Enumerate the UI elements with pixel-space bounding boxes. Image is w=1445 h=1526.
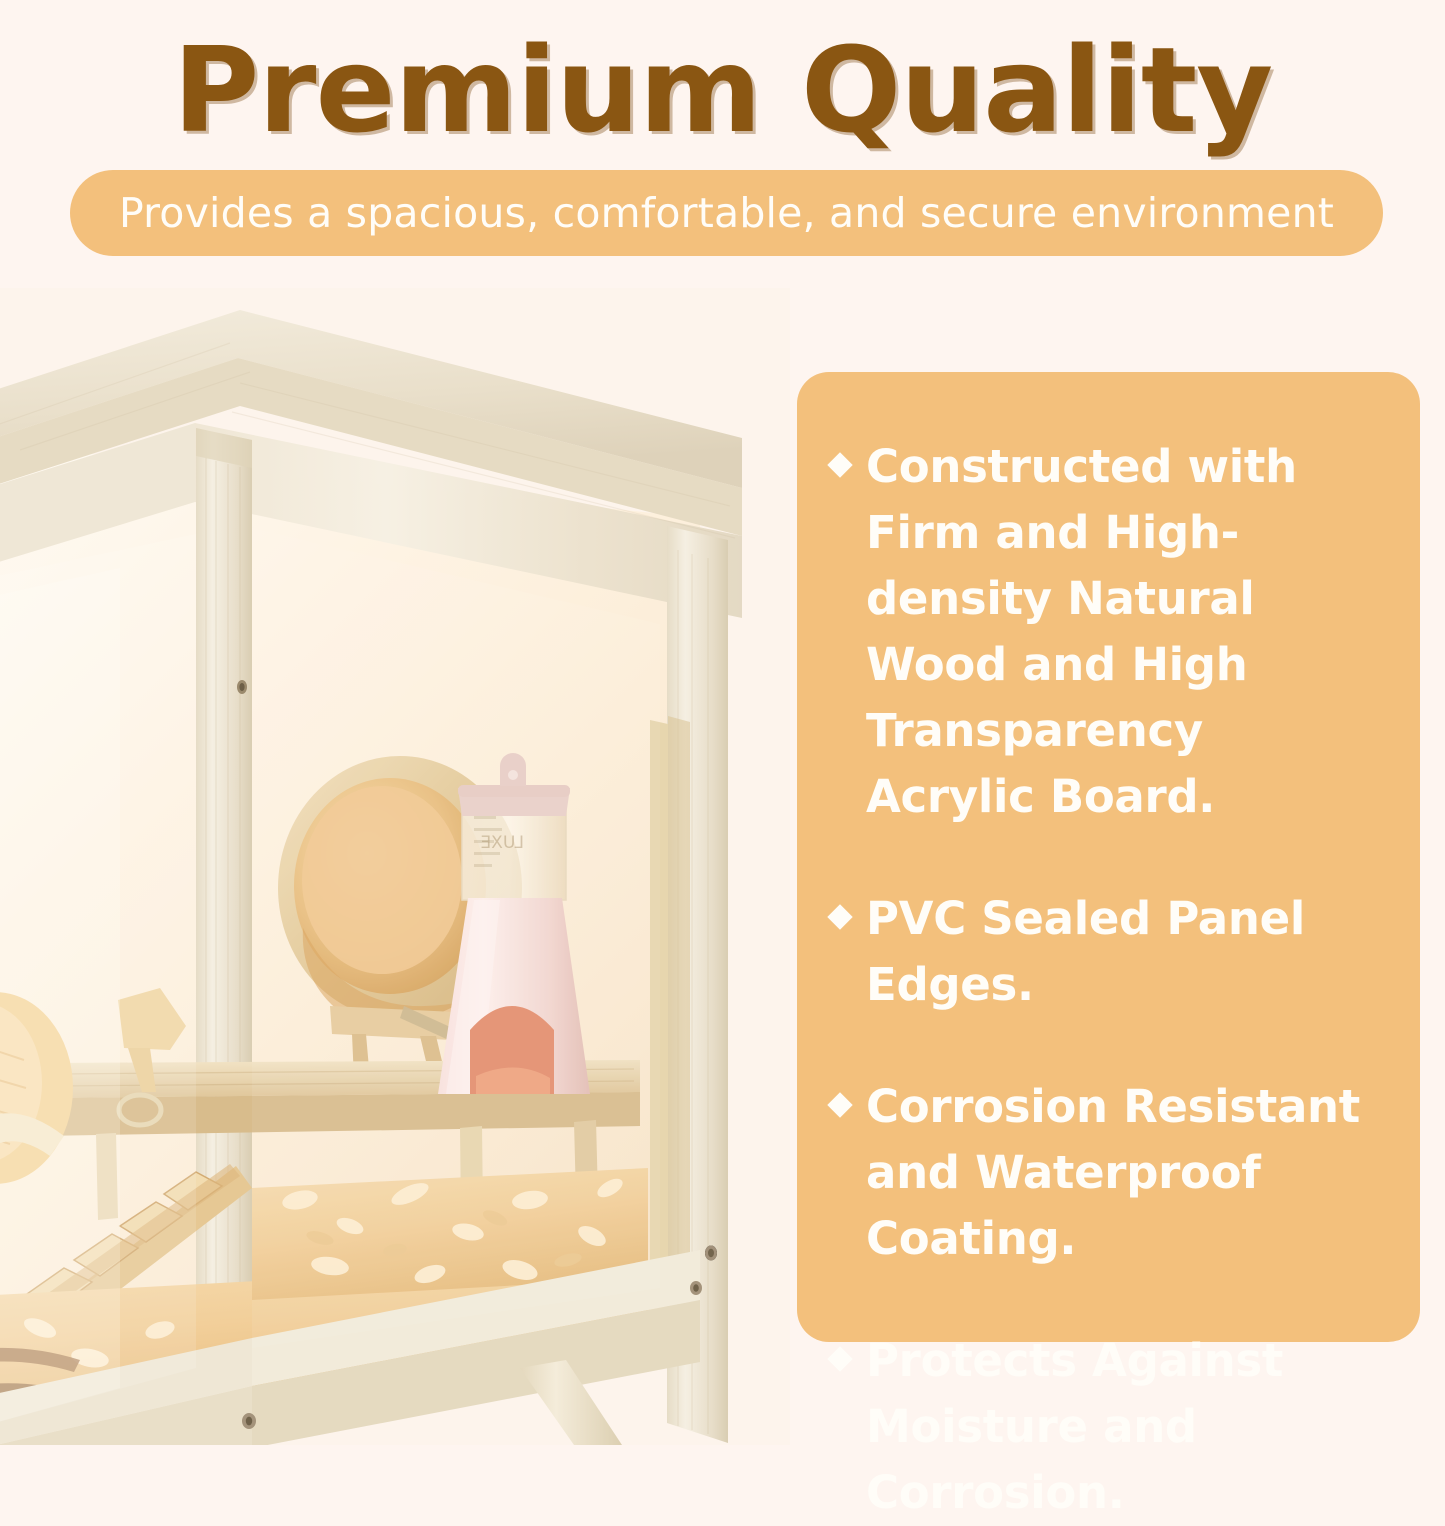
feature-item: Protects Against Moisture and Corrosion. [831,1328,1386,1526]
subtitle-text: Provides a spacious, comfortable, and se… [119,190,1334,236]
feature-item: Corrosion Resistant and Waterproof Coati… [831,1074,1386,1272]
feature-text: Constructed with Firm and High-density N… [866,434,1386,830]
feature-text: Corrosion Resistant and Waterproof Coati… [866,1074,1386,1272]
feature-text: Protects Against Moisture and Corrosion. [866,1328,1386,1526]
feature-item: PVC Sealed Panel Edges. [831,886,1386,1018]
diamond-bullet-icon [827,452,852,477]
feature-item: Constructed with Firm and High-density N… [831,434,1386,830]
hamster-cage-illustration: LUXE [0,288,790,1445]
page-title: Premium Quality [0,26,1445,154]
features-panel: Constructed with Firm and High-density N… [797,372,1420,1342]
diamond-bullet-icon [827,904,852,929]
feature-text: PVC Sealed Panel Edges. [866,886,1386,1018]
subtitle-banner: Provides a spacious, comfortable, and se… [70,170,1383,256]
diamond-bullet-icon [827,1092,852,1117]
diamond-bullet-icon [827,1346,852,1371]
product-photo: LUXE [0,288,790,1445]
